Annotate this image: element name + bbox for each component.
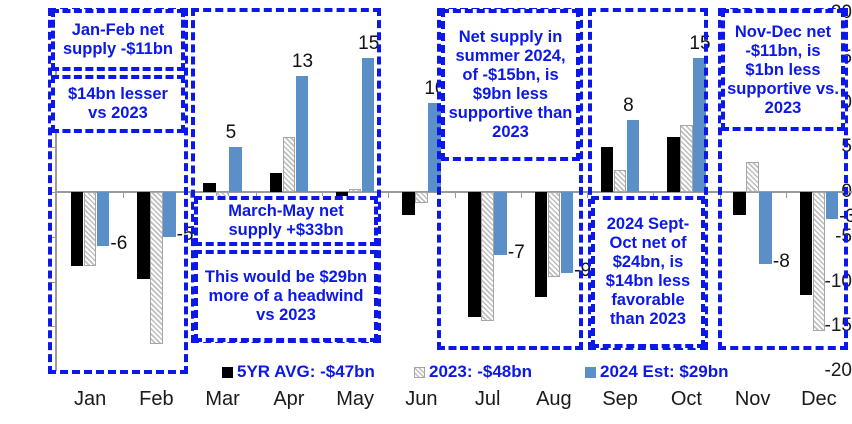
legend-item-5yr-avg[interactable]: 5YR AVG: -$47bn bbox=[222, 362, 375, 382]
legend-swatch-5yr-avg-icon bbox=[222, 367, 233, 378]
x-label-dec: Dec bbox=[786, 388, 852, 411]
x-label-jul: Jul bbox=[455, 388, 521, 411]
bar-avg5yr-jun bbox=[402, 192, 415, 215]
x-label-apr: Apr bbox=[256, 388, 322, 411]
callout-mar-may-headwind: This would be $29bn more of a headwind v… bbox=[194, 250, 378, 342]
legend-label-2024-est: 2024 Est: $29bn bbox=[600, 362, 729, 382]
legend-item-2024-est[interactable]: 2024 Est: $29bn bbox=[585, 362, 729, 382]
callout-nov-dec-net: Nov-Dec net -$11bn, is $1bn less support… bbox=[721, 9, 845, 131]
callout-jan-feb-net-supply: Jan-Feb net supply -$11bn bbox=[51, 9, 185, 71]
x-label-sep: Sep bbox=[587, 388, 653, 411]
x-label-mar: Mar bbox=[190, 388, 256, 411]
legend-swatch-2024-est-icon bbox=[585, 367, 596, 378]
x-label-jun: Jun bbox=[388, 388, 454, 411]
y-tick-label: -20 bbox=[806, 364, 852, 378]
callout-mar-may-headwind-text: This would be $29bn more of a headwind v… bbox=[198, 268, 374, 325]
x-label-feb: Feb bbox=[123, 388, 189, 411]
callout-jun-aug-summer: Net supply in summer 2024, of -$15bn, is… bbox=[441, 9, 580, 161]
chart-root: 20151050-5-10-15-20 -6-55131510-7-9815-8… bbox=[0, 0, 852, 424]
callout-mar-may-net-supply-text: March-May net supply +$33bn bbox=[198, 202, 374, 240]
callout-jan-feb-lesser-text: $14bn lesser vs 2023 bbox=[55, 85, 181, 123]
callout-sep-oct-net-text: 2024 Sept-Oct net of $24bn, is $14bn les… bbox=[595, 215, 701, 329]
x-label-nov: Nov bbox=[720, 388, 786, 411]
x-label-aug: Aug bbox=[521, 388, 587, 411]
x-label-may: May bbox=[322, 388, 388, 411]
legend-swatch-2023-icon bbox=[414, 367, 425, 378]
legend-item-2023[interactable]: 2023: -$48bn bbox=[414, 362, 532, 382]
x-tick-mark bbox=[388, 192, 389, 198]
x-label-jan: Jan bbox=[57, 388, 123, 411]
callout-sep-oct-net: 2024 Sept-Oct net of $24bn, is $14bn les… bbox=[591, 196, 705, 348]
callout-jun-aug-summer-text: Net supply in summer 2024, of -$15bn, is… bbox=[445, 28, 576, 142]
bar-y2023-jun bbox=[415, 192, 428, 203]
callout-nov-dec-net-text: Nov-Dec net -$11bn, is $1bn less support… bbox=[725, 23, 841, 118]
callout-jan-feb-lesser: $14bn lesser vs 2023 bbox=[51, 75, 185, 133]
x-label-oct: Oct bbox=[653, 388, 719, 411]
legend-label-2023: 2023: -$48bn bbox=[429, 362, 532, 382]
callout-mar-may-net-supply: March-May net supply +$33bn bbox=[194, 196, 378, 246]
legend-label-5yr-avg: 5YR AVG: -$47bn bbox=[237, 362, 375, 382]
callout-jan-feb-net-supply-text: Jan-Feb net supply -$11bn bbox=[55, 21, 181, 59]
